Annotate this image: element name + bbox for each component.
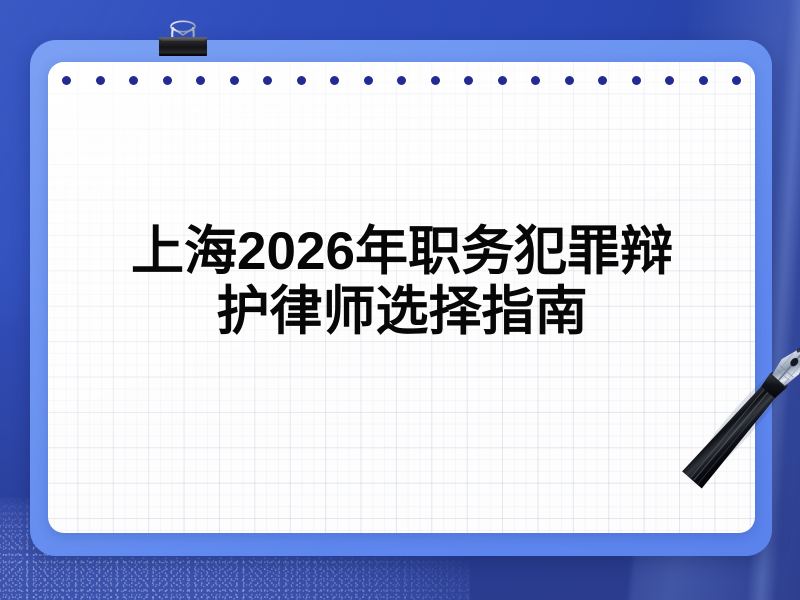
slide-title-line-2: 护律师选择指南 [62,282,742,342]
slide-title-line-1: 上海2026年职务犯罪辩 [62,222,742,282]
punch-dot [431,76,440,85]
punch-dot [364,76,373,85]
punch-dot [699,76,708,85]
punch-dot [531,76,540,85]
punch-dot [62,76,71,85]
punch-dot [96,76,105,85]
punch-dot [464,76,473,85]
punch-dot [230,76,239,85]
punch-dot [163,76,172,85]
punch-dot [498,76,507,85]
paper-punch-dots [48,76,755,85]
slide-title: 上海2026年职务犯罪辩 护律师选择指南 [62,222,742,342]
binder-clip-icon [152,14,214,76]
presentation-slide: 上海2026年职务犯罪辩 护律师选择指南 [0,0,800,600]
punch-dot [263,76,272,85]
punch-dot [129,76,138,85]
punch-dot [598,76,607,85]
punch-dot [665,76,674,85]
punch-dot [196,76,205,85]
punch-dot [732,76,741,85]
punch-dot [397,76,406,85]
punch-dot [632,76,641,85]
punch-dot [297,76,306,85]
punch-dot [565,76,574,85]
punch-dot [330,76,339,85]
